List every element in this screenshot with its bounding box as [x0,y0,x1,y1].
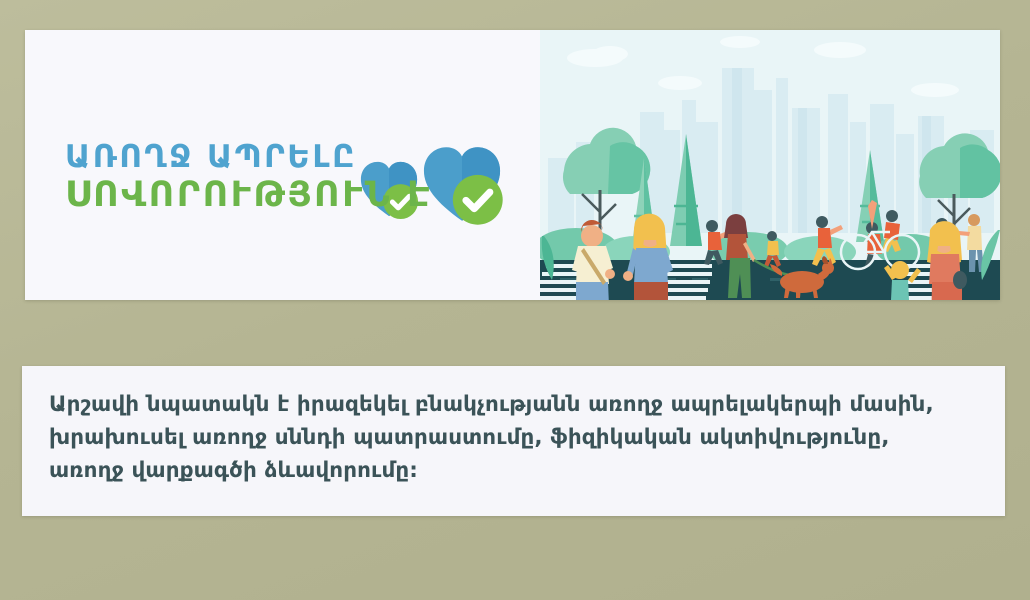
campaign-logo: ԱՌՈՂՋ ԱՊՐԵԼԸ ՍՈՎՈՐՈՒԹՅՈՒՆ Է [65,142,505,213]
body-paragraph: Արշավի նպատակն է իրազեկել բնակչությանն ա… [49,388,981,487]
body-line-2: խրախուսել առողջ սննդի պատրաստումը, ֆիզիկ… [49,421,981,454]
illustration-svg [540,30,1000,300]
illustration-park-scene [540,30,1000,300]
body-line-1: Արշավի նպատակն է իրազեկել բնակչությանն ա… [49,388,981,421]
logo-area: ԱՌՈՂՋ ԱՊՐԵԼԸ ՍՈՎՈՐՈՒԹՅՈՒՆ Է [25,30,540,300]
logo-line-2: ՍՈՎՈՐՈՒԹՅՈՒՆ Է [65,178,505,213]
body-line-3: առողջ վարքագծի ձևավորումը: [49,454,981,487]
slide-root: ԱՌՈՂՋ ԱՊՐԵԼԸ ՍՈՎՈՐՈՒԹՅՈՒՆ Է [0,0,1030,600]
bottom-text-panel: Արշավի նպատակն է իրազեկել բնակչությանն ա… [22,366,1005,516]
top-panel: ԱՌՈՂՋ ԱՊՐԵԼԸ ՍՈՎՈՐՈՒԹՅՈՒՆ Է [25,30,1000,300]
